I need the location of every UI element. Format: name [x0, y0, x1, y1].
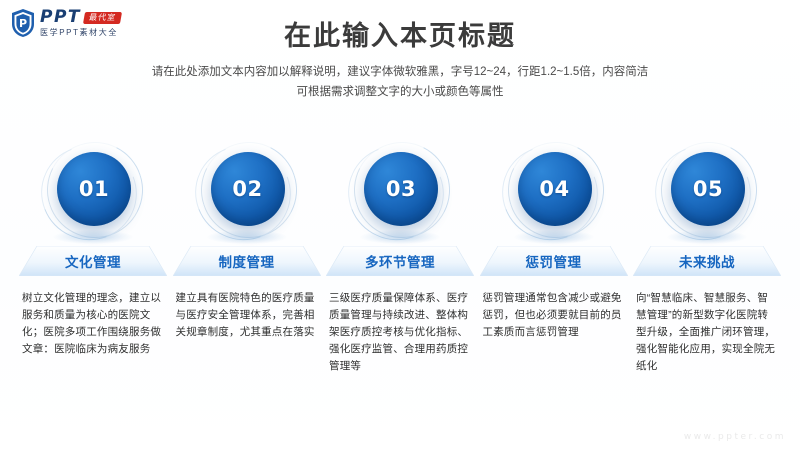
- heading-ribbon: 惩罚管理: [480, 246, 628, 276]
- column-item[interactable]: 03 多环节管理 三级医疗质量保障体系、医疗质量管理与持续改进、整体构架医疗质控…: [325, 140, 475, 375]
- column-item[interactable]: 05 未来挑战 向“智慧临床、智慧服务、智慧管理”的新型数字化医院转型升级，全面…: [632, 140, 782, 375]
- step-circle[interactable]: 04: [518, 152, 592, 226]
- column-heading: 文化管理: [65, 251, 121, 271]
- step-circle-wrap: 04: [502, 140, 606, 240]
- step-number: 04: [539, 177, 569, 201]
- column-body: 惩罚管理通常包含减少或避免惩罚，但也必须要就目前的员工素质而言惩罚管理: [483, 290, 625, 341]
- circle-shadow: [360, 230, 440, 244]
- step-circle-wrap: 02: [195, 140, 299, 240]
- heading-ribbon: 多环节管理: [326, 246, 474, 276]
- footer-watermark: www.ppter.com: [684, 432, 786, 442]
- heading-ribbon: 制度管理: [173, 246, 321, 276]
- step-circle[interactable]: 05: [671, 152, 745, 226]
- column-item[interactable]: 04 惩罚管理 惩罚管理通常包含减少或避免惩罚，但也必须要就目前的员工素质而言惩…: [479, 140, 629, 375]
- circle-shadow: [53, 230, 133, 244]
- step-number: 05: [693, 177, 723, 201]
- column-body: 建立具有医院特色的医疗质量与医疗安全管理体系，完善相关规章制度，尤其重点在落实: [176, 290, 318, 341]
- column-body: 三级医疗质量保障体系、医疗质量管理与持续改进、整体构架医疗质控考核与优化指标、强…: [329, 290, 471, 375]
- step-circle-wrap: 01: [41, 140, 145, 240]
- subtitle-line-2: 可根据需求调整文字的大小或颜色等属性: [0, 82, 800, 102]
- column-item[interactable]: 01 文化管理 树立文化管理的理念，建立以服务: [18, 140, 168, 375]
- step-circle-wrap: 05: [655, 140, 759, 240]
- step-circle[interactable]: 03: [364, 152, 438, 226]
- heading-ribbon: 文化管理: [19, 246, 167, 276]
- page-subtitle: 请在此处添加文本内容加以解释说明，建议字体微软雅黑，字号12~24，行距1.2~…: [0, 62, 800, 102]
- column-heading: 多环节管理: [365, 251, 435, 271]
- column-heading: 制度管理: [219, 251, 275, 271]
- subtitle-line-1: 请在此处添加文本内容加以解释说明，建议字体微软雅黑，字号12~24，行距1.2~…: [0, 62, 800, 82]
- column-item[interactable]: 02 制度管理 建立具有医院特色的医疗质量与医疗安全管理体系，完善相关规章制度，…: [172, 140, 322, 375]
- circle-shadow: [514, 230, 594, 244]
- step-circle-wrap: 03: [348, 140, 452, 240]
- page-title: 在此输入本页标题: [0, 14, 800, 53]
- column-body: 向“智慧临床、智慧服务、智慧管理”的新型数字化医院转型升级，全面推广闭环管理，强…: [636, 290, 778, 375]
- step-number: 02: [232, 177, 262, 201]
- slide-canvas: P PPT 最代室 医学PPT素材大全 在此输入本页标题 请在此处添加文本内容加…: [0, 0, 800, 450]
- step-number: 01: [79, 177, 109, 201]
- circle-shadow: [207, 230, 287, 244]
- step-circle[interactable]: 01: [57, 152, 131, 226]
- circle-shadow: [667, 230, 747, 244]
- column-body: 树立文化管理的理念，建立以服务和质量为核心的医院文化；医院多项工作围绕服务做文章…: [22, 290, 164, 358]
- step-number: 03: [386, 177, 416, 201]
- heading-ribbon: 未来挑战: [633, 246, 781, 276]
- column-heading: 惩罚管理: [526, 251, 582, 271]
- column-heading: 未来挑战: [679, 251, 735, 271]
- step-circle[interactable]: 02: [211, 152, 285, 226]
- content-columns: 01 文化管理 树立文化管理的理念，建立以服务: [18, 140, 782, 375]
